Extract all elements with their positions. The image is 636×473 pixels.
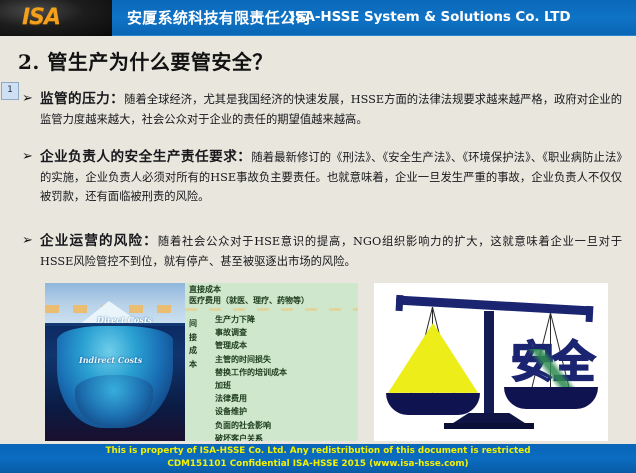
scale-beam-end-left xyxy=(396,295,404,311)
page-title: 2. 管生产为什么要管安全？ xyxy=(18,46,273,75)
indirect-cost-item-3: 主管的时间损失 xyxy=(215,353,287,366)
footer-document-id-line: CDM151101 Confidential ISA-HSSE 2015 (ww… xyxy=(0,459,636,469)
indirect-cost-item-5: 加班 xyxy=(215,379,287,392)
iceberg-submerged-mass-lower xyxy=(75,375,153,427)
indirect-cost-heading-vertical: 间 接 成 本 xyxy=(189,317,201,371)
indirect-cost-list: 生产力下降 事故调查 管理成本 主管的时间损失 替换工作的培训成本 加班 法律费… xyxy=(215,313,287,441)
bullet-lead: 企业负责人的安全生产责任要求： xyxy=(40,149,251,165)
direct-cost-item-0: 医疗费用（就医、理疗、药物等） xyxy=(189,295,309,306)
gold-pile-icon xyxy=(388,323,478,399)
bullet-body: 企业负责人的安全生产责任要求：随着最新修订的《刑法》、《安全生产法》、《环境保护… xyxy=(40,148,622,207)
indirect-cost-item-4: 替换工作的培训成本 xyxy=(215,366,287,379)
bullet-text: 随着全球经济，尤其是我国经济的快速发展，HSSE方面的法律法规要求越来越严格，政… xyxy=(40,93,622,126)
bullet-arrow-icon: ➢ xyxy=(22,91,33,106)
cost-panel-divider xyxy=(185,308,358,311)
direct-cost-heading: 直接成本 xyxy=(189,284,221,295)
slide-number-marker: 1 xyxy=(1,82,19,100)
indirect-heading-char-2: 成 xyxy=(189,344,201,358)
iceberg-cost-image: Direct Costs Indirect Costs xyxy=(45,283,185,441)
isa-logo-text: ISA xyxy=(22,5,60,30)
scale-safety-label: 安全 xyxy=(506,339,598,387)
scale-pan-left xyxy=(386,393,480,415)
bullet-lead: 企业运营的风险： xyxy=(40,233,158,249)
indirect-cost-item-7: 设备维护 xyxy=(215,405,287,418)
indirect-heading-char-3: 本 xyxy=(189,358,201,372)
iceberg-label-indirect-costs: Indirect Costs xyxy=(79,355,142,365)
scale-pan-right xyxy=(504,387,598,409)
scale-base-foot xyxy=(444,423,534,429)
indirect-cost-item-2: 管理成本 xyxy=(215,339,287,352)
footer-copyright-line: This is property of ISA-HSSE Co. Ltd. An… xyxy=(0,446,636,456)
bullet-arrow-icon: ➢ xyxy=(22,233,33,248)
bullet-body: 监管的压力：随着全球经济，尤其是我国经济的快速发展，HSSE方面的法律法规要求越… xyxy=(40,90,622,129)
presentation-slide: ISA 安厦系统科技有限责任公司 ISA-HSSE System & Solut… xyxy=(0,0,636,473)
company-name-english: ISA-HSSE System & Solutions Co. LTD xyxy=(290,9,571,25)
scale-center-post xyxy=(484,311,494,419)
indirect-cost-item-0: 生产力下降 xyxy=(215,313,287,326)
bullet-lead: 监管的压力： xyxy=(40,91,124,107)
company-name-chinese: 安厦系统科技有限责任公司 xyxy=(127,7,311,28)
bullet-item-executive-responsibility: ➢ 企业负责人的安全生产责任要求：随着最新修订的《刑法》、《安全生产法》、《环境… xyxy=(22,148,622,207)
slide-header: ISA 安厦系统科技有限责任公司 ISA-HSSE System & Solut… xyxy=(0,0,636,36)
scale-beam xyxy=(396,296,592,316)
indirect-cost-item-6: 法律费用 xyxy=(215,392,287,405)
balance-scale-image: 安全 xyxy=(374,283,608,441)
cost-breakdown-panel: 直接成本 医疗费用（就医、理疗、药物等） 间 接 成 本 生产力下降 事故调查 … xyxy=(185,283,358,441)
bullet-body: 企业运营的风险：随着社会公众对于HSE意识的提高，NGO组织影响力的扩大，这就意… xyxy=(40,232,622,271)
slide-footer: This is property of ISA-HSSE Co. Ltd. An… xyxy=(0,444,636,473)
header-divider xyxy=(112,35,636,36)
scale-beam-end-right xyxy=(586,306,594,322)
bullet-item-regulatory-pressure: ➢ 监管的压力：随着全球经济，尤其是我国经济的快速发展，HSSE方面的法律法规要… xyxy=(22,90,622,129)
indirect-cost-item-9: 破坏客户关系 xyxy=(215,432,287,441)
indirect-heading-char-1: 接 xyxy=(189,331,201,345)
iceberg-label-direct-costs: Direct Costs xyxy=(97,315,152,325)
indirect-cost-item-1: 事故调查 xyxy=(215,326,287,339)
isa-logo-badge: ISA xyxy=(0,0,112,36)
indirect-heading-char-0: 间 xyxy=(189,317,201,331)
bullet-item-operational-risk: ➢ 企业运营的风险：随着社会公众对于HSE意识的提高，NGO组织影响力的扩大，这… xyxy=(22,232,622,271)
bullet-arrow-icon: ➢ xyxy=(22,149,33,164)
indirect-cost-item-8: 负面的社会影响 xyxy=(215,419,287,432)
